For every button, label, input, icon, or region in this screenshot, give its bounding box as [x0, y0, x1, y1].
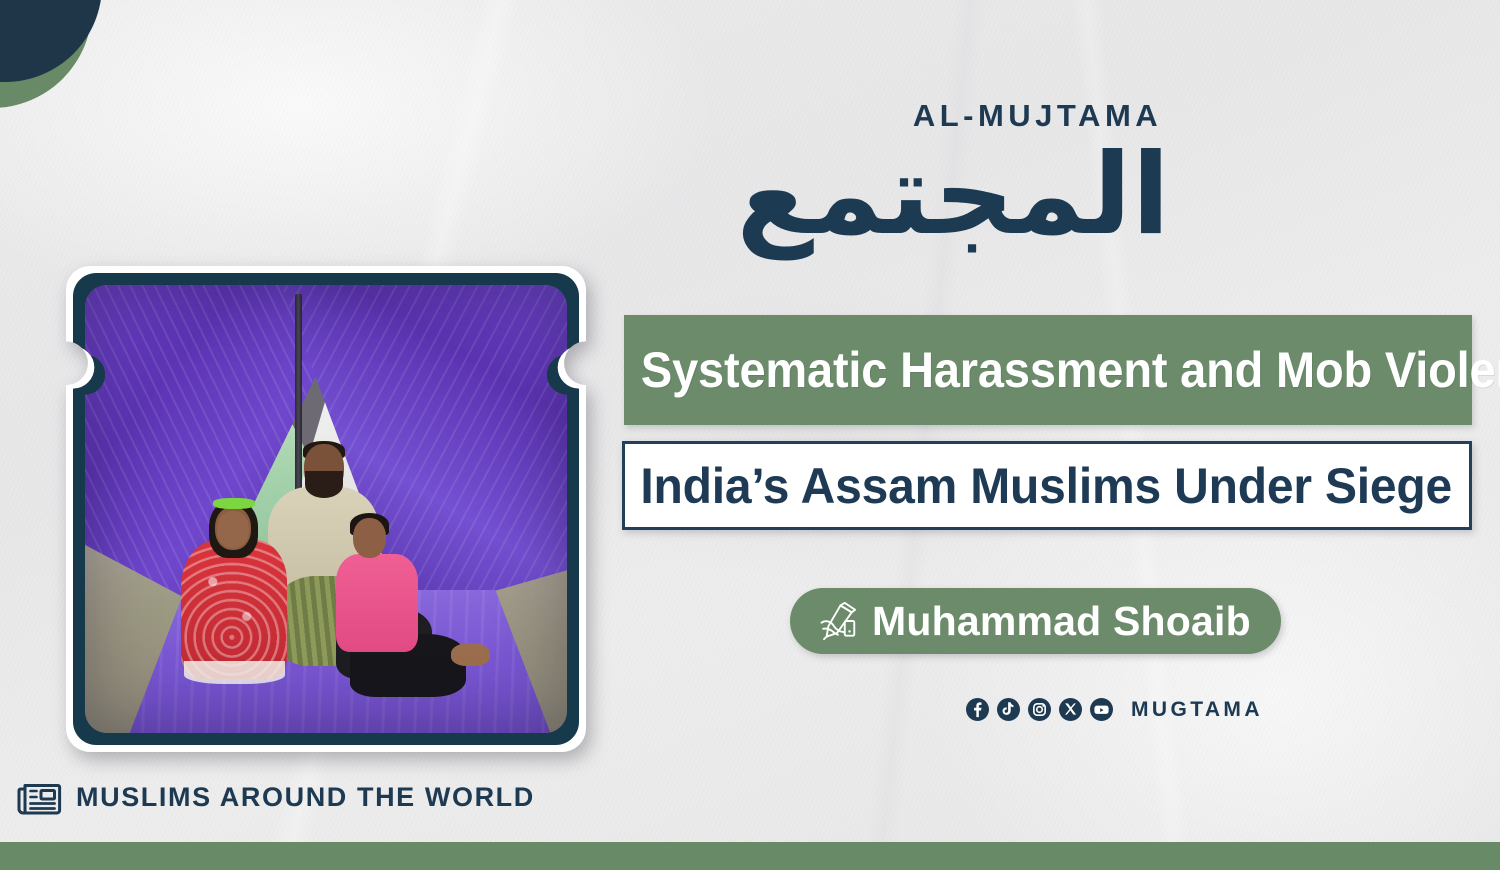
newspaper-icon — [16, 776, 62, 818]
bottom-accent-bar — [0, 842, 1500, 870]
corner-decoration — [0, 0, 210, 140]
headline-line-1: Systematic Harassment and Mob Violence: — [624, 345, 1500, 395]
youtube-icon[interactable] — [1090, 698, 1113, 721]
publication-logo: AL-MUJTAMA المجتمع — [905, 100, 1170, 290]
facebook-icon[interactable] — [966, 698, 989, 721]
social-handle-label: MUGTAMA — [1131, 699, 1263, 720]
author-name: Muhammad Shoaib — [872, 601, 1251, 642]
headline-banner-primary: Systematic Harassment and Mob Violence: — [624, 315, 1472, 425]
photo-scene — [85, 285, 567, 733]
article-photo — [85, 285, 567, 733]
logo-arabic-calligraphy: المجتمع — [905, 125, 1170, 265]
footer-brand-label: MUSLIMS AROUND THE WORLD — [76, 784, 535, 811]
corner-circle-navy — [0, 0, 102, 82]
photo-frame-outer — [66, 266, 586, 752]
photo-frame-border — [73, 273, 579, 745]
headline-line-2: India’s Assam Muslims Under Siege — [625, 461, 1452, 511]
writing-hand-pencil-icon — [816, 602, 858, 640]
author-byline-pill: Muhammad Shoaib — [790, 588, 1281, 654]
headline-banner-secondary: India’s Assam Muslims Under Siege — [622, 441, 1472, 530]
photo-vignette — [85, 285, 567, 733]
tiktok-icon[interactable] — [997, 698, 1020, 721]
social-handles-row: MUGTAMA — [966, 696, 1263, 722]
x-twitter-icon[interactable] — [1059, 698, 1082, 721]
footer-brand: MUSLIMS AROUND THE WORLD — [16, 776, 535, 818]
instagram-icon[interactable] — [1028, 698, 1051, 721]
article-photo-card — [66, 266, 586, 752]
